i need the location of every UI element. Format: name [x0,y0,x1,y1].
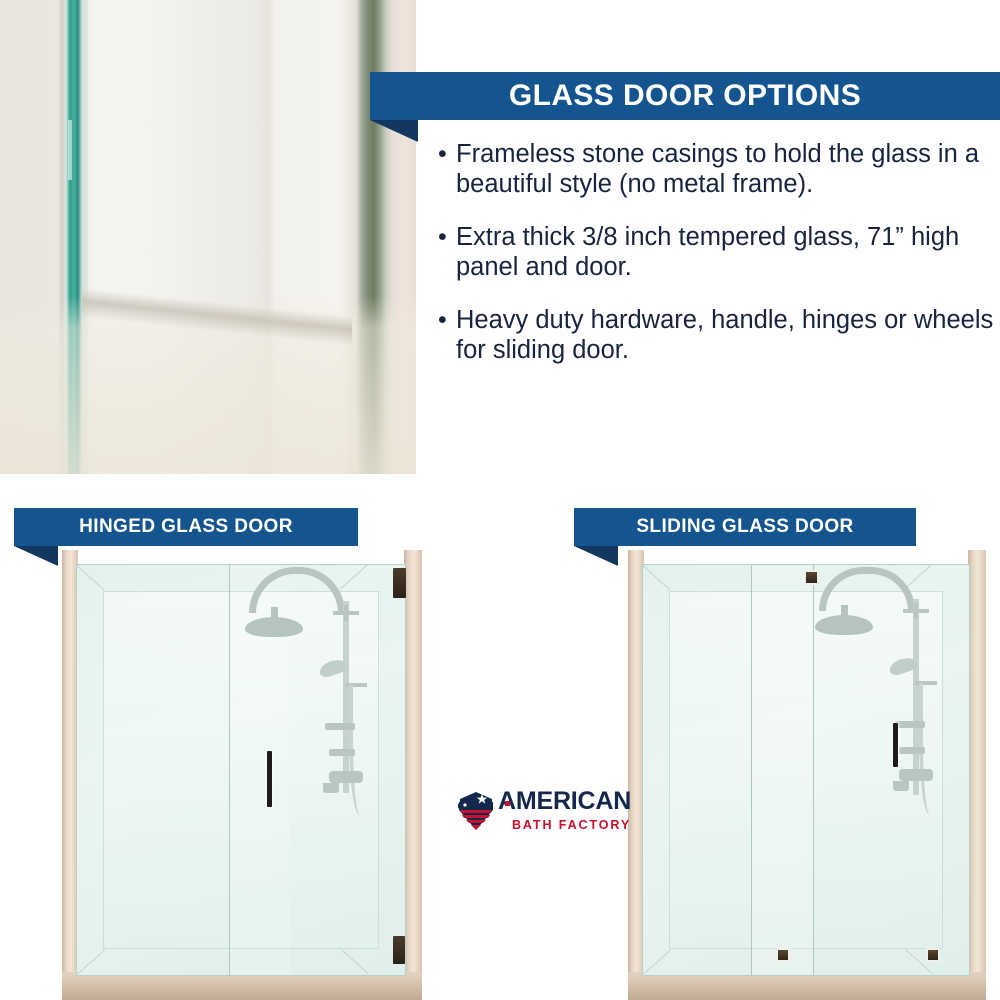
corner-line-bl [643,949,671,975]
corner-line-tr [904,564,932,590]
feature-text: Heavy duty hardware, handle, hinges or w… [456,306,1000,365]
sliding-seam-right [813,565,814,975]
sliding-door-illustration [628,550,986,1000]
feature-text: Frameless stone casings to hold the glas… [456,140,1000,199]
hinged-door-banner: HINGED GLASS DOOR [14,508,358,546]
list-item: • Extra thick 3/8 inch tempered glass, 7… [438,223,1000,282]
sliding-panel-overlap [751,565,813,975]
bullet-dot-icon: • [438,223,456,252]
corner-line-bl [77,949,105,975]
sliding-banner-fold-icon [574,546,618,566]
sliding-door-label: SLIDING GLASS DOOR [636,516,853,538]
sliding-seam-left [751,565,752,975]
feature-text: Extra thick 3/8 inch tempered glass, 71”… [456,223,1000,282]
brand-name-primary: AMERICAN [498,789,631,814]
shower-head-icon [245,617,303,637]
corner-line-tl [76,565,104,591]
roller-bottom-left[interactable] [776,948,790,962]
hinged-door-label: HINGED GLASS DOOR [79,516,293,538]
page-title: GLASS DOOR OPTIONS [509,79,861,113]
stone-base [62,972,422,1000]
stone-base [628,972,986,1000]
valve-handle-upper [895,721,925,728]
header-banner-fold-icon [370,120,418,142]
diverter-body [329,771,363,783]
hinged-door-illustration [62,550,422,1000]
tub-spout-icon [893,781,909,791]
list-item: • Heavy duty hardware, handle, hinges or… [438,306,1000,365]
valve-stem-top [344,605,348,621]
door-handle[interactable] [267,751,272,807]
corner-line-tr [340,564,368,590]
eagle-shield-emblem-icon [456,790,496,832]
valve-handle-upper [325,723,355,730]
tub-spout-icon [323,783,339,793]
infographic-page: GLASS DOOR OPTIONS • Frameless stone cas… [0,0,1000,1000]
logo-accent-dot [505,801,510,806]
bullet-dot-icon: • [438,306,456,335]
brand-wordmark: AMERICAN BATH FACTORY [498,789,631,832]
feature-list: • Frameless stone casings to hold the gl… [438,140,1000,389]
glass-enclosure [642,564,970,976]
stone-casing-right [968,550,986,1000]
glass-enclosure [76,564,406,976]
brand-name-secondary: BATH FACTORY [512,819,631,832]
valve-stem-top [914,603,918,619]
header-banner: GLASS DOOR OPTIONS [370,72,1000,120]
shower-head-icon [815,615,873,635]
hinge-top[interactable] [393,568,406,598]
stone-casing-right [404,550,422,1000]
glass-edge-highlight [68,120,72,180]
roller-top[interactable] [804,570,819,585]
hinge-bottom[interactable] [393,936,405,964]
hinged-banner-fold-icon [14,546,58,566]
shower-arm-icon [819,567,915,611]
diverter-body [899,769,933,781]
sliding-door-banner: SLIDING GLASS DOOR [574,508,916,546]
corner-line-tl [642,565,670,591]
door-handle[interactable] [893,723,898,767]
valve-handle-lower [899,747,925,754]
valve-handle-lower [329,749,355,756]
glass-edge-photo [0,0,416,474]
list-item: • Frameless stone casings to hold the gl… [438,140,1000,199]
corner-line-br [341,948,369,974]
roller-bottom-right[interactable] [926,948,940,962]
brand-logo: AMERICAN BATH FACTORY [456,788,606,834]
bullet-dot-icon: • [438,140,456,169]
